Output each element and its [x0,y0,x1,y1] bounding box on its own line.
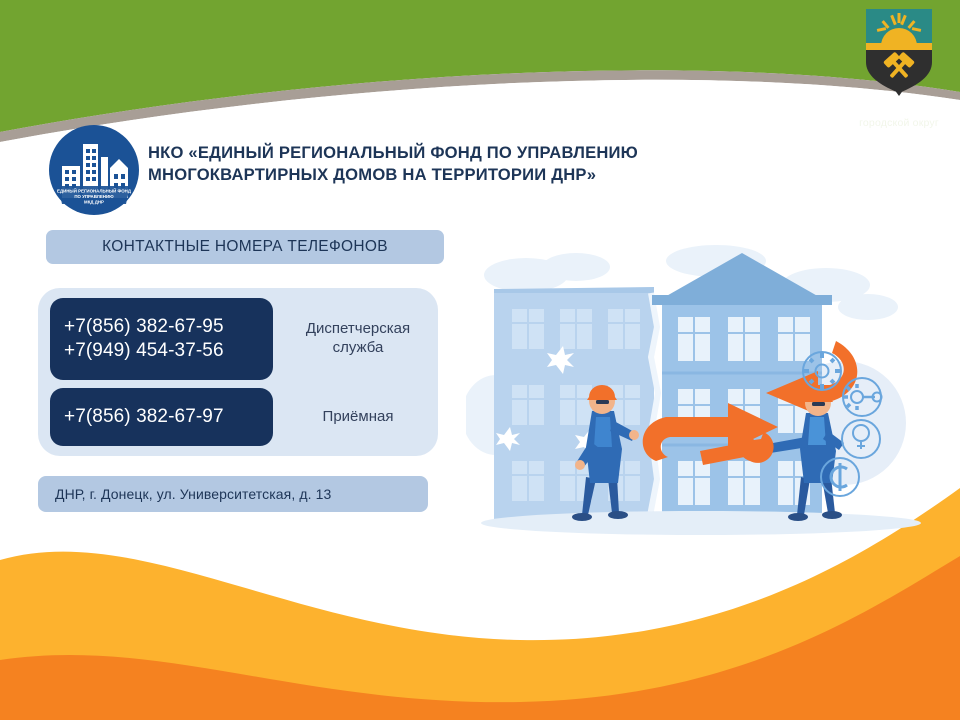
contacts-banner-label: КОНТАКТНЫЕ НОМЕРА ТЕЛЕФОНОВ [102,238,388,256]
emblem-city-name: МАКЕЕВКА [851,98,947,115]
old-building [494,287,658,521]
buildings-renovation-illustration [466,245,936,537]
phone-row-dispatch: +7(856) 382-67-95 +7(949) 454-37-56 Дисп… [38,298,438,380]
phones-panel: +7(856) 382-67-95 +7(949) 454-37-56 Дисп… [38,288,438,456]
address-bar: ДНР, г. Донецк, ул. Университетская, д. … [38,476,428,512]
emblem-city-subtitle: городской округ [859,118,939,129]
organization-header: ЕДИНЫЙ РЕГИОНАЛЬНЫЙ ФОНД ПО УПРАВЛЕНИЮ М… [48,124,728,216]
phone-label-dispatch: Диспетчерская служба [283,320,433,358]
phone-label-reception: Приёмная [283,408,433,427]
address-text: ДНР, г. Донецк, ул. Университетская, д. … [38,486,331,502]
shield-gold-bar [866,43,932,50]
phone-number[interactable]: +7(856) 382-67-95 [64,315,224,339]
organization-title: НКО «ЕДИНЫЙ РЕГИОНАЛЬНЫЙ ФОНД ПО УПРАВЛЕ… [148,142,728,186]
poster-root: МАКЕЕВКА городской округ [0,0,960,720]
ground-shadow [481,511,921,535]
logo-banner-line3: МКД ДНР [84,200,104,205]
phone-box-reception[interactable]: +7(856) 382-67-97 [50,388,273,446]
logo-banner-line1: ЕДИНЫЙ РЕГИОНАЛЬНЫЙ ФОНД [57,189,132,194]
shield-tip [894,89,904,96]
contacts-banner: КОНТАКТНЫЕ НОМЕРА ТЕЛЕФОНОВ [46,230,444,264]
coat-of-arms-icon [862,6,936,96]
phone-number[interactable]: +7(856) 382-67-97 [64,405,224,429]
fund-logo-icon: ЕДИНЫЙ РЕГИОНАЛЬНЫЙ ФОНД ПО УПРАВЛЕНИЮ М… [48,124,140,216]
makeevka-emblem-block: МАКЕЕВКА городской округ [838,0,960,140]
logo-banner-line2: ПО УПРАВЛЕНИЮ [74,194,114,199]
phone-box-dispatch[interactable]: +7(856) 382-67-95 +7(949) 454-37-56 [50,298,273,380]
phone-row-reception: +7(856) 382-67-97 Приёмная [38,388,438,446]
phone-number[interactable]: +7(949) 454-37-56 [64,339,224,363]
